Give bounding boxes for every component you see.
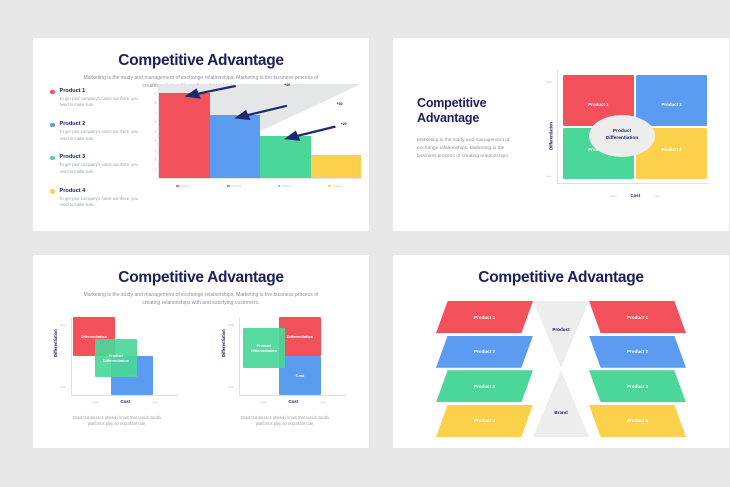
x-axis-low-label: Low xyxy=(654,194,660,198)
quadrant-label: Product 1 xyxy=(588,102,608,107)
slide-3-diagrams: Differentiation High Low Differentiation… xyxy=(33,311,369,439)
center-ellipse-product-differentiation[interactable]: Product Differentiation xyxy=(589,115,655,157)
differentiation-cost-matrix[interactable]: Differentiation High Low Product 1 Produ… xyxy=(533,66,711,206)
chart-bottom-legend: Product 1 Product 2 Product 3 Produ xyxy=(158,180,361,192)
legend-entry[interactable]: Product 3 xyxy=(260,185,311,188)
bullet-dot-icon xyxy=(50,90,55,95)
center-label-brand: Brand xyxy=(554,410,567,415)
row-label: Product 3 xyxy=(627,384,648,389)
y-tick-label: 0 xyxy=(156,178,157,181)
list-item[interactable]: Product 2 To get your company's name out… xyxy=(50,121,141,142)
x-axis-labels: High Cost Low xyxy=(71,399,179,404)
legend-item-desc: To get your company's name out there, yo… xyxy=(60,162,142,175)
product-legend-list: Product 1 To get your company's name out… xyxy=(33,82,141,231)
bar-product-3[interactable] xyxy=(260,136,311,178)
box-product-differentiation[interactable]: Product Differentiation xyxy=(95,339,137,377)
y-axis-high-label: High xyxy=(60,323,66,327)
x-axis-label: Cost xyxy=(630,193,640,198)
slide-1-body: Product 1 To get your company's name out… xyxy=(33,82,369,231)
legend-entry[interactable]: Product 2 xyxy=(209,185,260,188)
legend-entry-label: Product 4 xyxy=(333,185,343,188)
y-tick-label: 50 xyxy=(154,130,157,133)
bar-series xyxy=(159,84,361,178)
y-axis-label: Differentiation xyxy=(548,122,553,150)
slide-2-title-line-2: Advantage xyxy=(417,111,479,125)
right-row-product-2[interactable]: Product 2 xyxy=(589,336,686,368)
slide-2-matrix[interactable]: Competitive Advantage Marketing is the s… xyxy=(393,38,729,231)
bullet-dot-icon xyxy=(50,156,55,161)
slide-4-hexagon[interactable]: Competitive Advantage Product 1 Product … xyxy=(393,255,729,448)
row-label: Product 2 xyxy=(627,349,648,354)
bullet-dot-icon xyxy=(50,123,55,128)
y-tick-label: 40 xyxy=(154,140,157,143)
right-row-product-1[interactable]: Product 1 xyxy=(589,301,686,333)
annotation-label-1: +40 xyxy=(284,83,290,87)
legend-swatch-icon xyxy=(278,185,281,188)
hexagon-grid: Product 1 Product Product 1 Product 2 Pr… xyxy=(436,301,686,437)
list-item[interactable]: Product 3 To get your company's name out… xyxy=(50,154,141,175)
x-axis-label: Cost xyxy=(120,399,130,404)
y-tick-label: 30 xyxy=(154,149,157,152)
y-tick-label: 10 xyxy=(154,168,157,171)
diagram-right[interactable]: Differentiation High Low Differentiation… xyxy=(201,311,369,439)
slide-3-title: Competitive Advantage xyxy=(33,269,369,287)
x-axis-low-label: Low xyxy=(152,400,158,404)
left-row-product-4[interactable]: Product 4 xyxy=(436,405,533,437)
legend-entry-label: Product 3 xyxy=(282,185,292,188)
bullet-dot-icon xyxy=(50,189,55,194)
slide-2-title-line-1: Competitive xyxy=(417,96,486,110)
list-item[interactable]: Product 4 To get your company's name out… xyxy=(50,188,141,209)
legend-item-title: Product 1 xyxy=(60,88,142,94)
annotation-label-3: +20 xyxy=(341,122,347,126)
slide-2-paragraph: Marketing is the study and management of… xyxy=(417,137,521,162)
box-label-line-2: Differentiation xyxy=(103,358,129,363)
diagram-caption: Most businesses already know that social… xyxy=(33,415,201,428)
quadrant-product-2[interactable]: Product 2 xyxy=(636,75,707,126)
legend-item-title: Product 4 xyxy=(60,188,142,194)
diagram-left[interactable]: Differentiation High Low Differentiation… xyxy=(33,311,201,439)
y-axis-label: Differentiation xyxy=(53,329,58,357)
y-tick-label: 20 xyxy=(154,159,157,162)
legend-item-desc: To get your company's name out there, yo… xyxy=(60,129,142,142)
right-row-product-3[interactable]: Product 3 xyxy=(589,370,686,402)
y-axis-low-label: Low xyxy=(228,385,233,389)
left-row-product-2[interactable]: Product 2 xyxy=(436,336,533,368)
left-row-product-1[interactable]: Product 1 xyxy=(436,301,533,333)
bar-product-4[interactable] xyxy=(311,155,362,178)
center-ellipse-line-2: Differentiation xyxy=(606,136,639,141)
legend-item-title: Product 2 xyxy=(60,121,142,127)
legend-swatch-icon xyxy=(328,185,331,188)
legend-entry[interactable]: Product 1 xyxy=(158,185,209,188)
y-tick-label: 70 xyxy=(154,111,157,114)
box-label-line-2: Differentiation xyxy=(251,348,277,353)
x-axis-high-label: High xyxy=(92,400,98,404)
center-triangle-brand[interactable]: Brand xyxy=(533,370,589,437)
annotation-label-2: +30 xyxy=(337,102,343,106)
x-axis-high-label: High xyxy=(260,400,266,404)
box-label: Cost xyxy=(296,373,305,378)
legend-item-title: Product 3 xyxy=(60,154,142,160)
quadrant-label: Product 4 xyxy=(662,147,682,152)
box-product-differentiation[interactable]: Product Differentiation xyxy=(243,328,285,368)
plot-area: +40 +30 +20 xyxy=(158,84,361,179)
x-axis-label: Cost xyxy=(288,399,298,404)
list-item[interactable]: Product 1 To get your company's name out… xyxy=(50,88,141,109)
legend-entry[interactable]: Product 4 xyxy=(310,185,361,188)
legend-entry-label: Product 2 xyxy=(231,185,241,188)
row-label: Product 4 xyxy=(474,418,495,423)
quadrant-label: Product 2 xyxy=(662,102,682,107)
legend-entry-label: Product 1 xyxy=(180,185,190,188)
row-label: Product 3 xyxy=(474,384,495,389)
slide-deck: Competitive Advantage Marketing is the s… xyxy=(0,0,730,487)
y-axis-ticks: 100 90 80 70 60 50 40 30 20 10 0 xyxy=(145,84,158,179)
y-axis-high-label: High xyxy=(546,80,552,84)
slide-4-title: Competitive Advantage xyxy=(393,269,729,287)
hexagon-diagram: Product 1 Product Product 1 Product 2 Pr… xyxy=(393,299,729,439)
center-label-product: Product xyxy=(552,327,569,332)
y-axis-label: Differentiation xyxy=(221,329,226,357)
bar-chart[interactable]: 100 90 80 70 60 50 40 30 20 10 0 xyxy=(141,82,369,231)
legend-swatch-icon xyxy=(227,185,230,188)
box-label: Differentiation xyxy=(287,334,313,339)
slide-2-text-block: Competitive Advantage Marketing is the s… xyxy=(417,96,521,161)
box-cost[interactable]: Cost xyxy=(279,356,321,395)
row-label: Product 4 xyxy=(627,418,648,423)
bar-product-2[interactable] xyxy=(210,115,261,178)
row-label: Product 1 xyxy=(474,315,495,320)
y-axis-high-label: High xyxy=(228,323,234,327)
left-row-product-3[interactable]: Product 3 xyxy=(436,370,533,402)
row-label: Product 2 xyxy=(474,349,495,354)
center-ellipse-line-1: Product xyxy=(613,129,631,134)
y-tick-label: 80 xyxy=(154,102,157,105)
y-tick-label: 60 xyxy=(154,121,157,124)
legend-item-desc: To get your company's name out there, yo… xyxy=(60,196,142,209)
bar-product-1[interactable] xyxy=(159,93,210,178)
slide-3-dual-matrix[interactable]: Competitive Advantage Marketing is the s… xyxy=(33,255,369,448)
x-axis-high-label: High xyxy=(610,194,616,198)
slide-1-title: Competitive Advantage xyxy=(33,52,369,70)
y-axis-low-label: Low xyxy=(546,174,552,178)
center-triangle-product[interactable]: Product xyxy=(533,301,589,368)
y-tick-label: 90 xyxy=(154,92,157,95)
x-axis-labels: High Cost Low xyxy=(239,399,347,404)
box-differentiation[interactable]: Differentiation xyxy=(279,317,321,356)
row-label: Product 1 xyxy=(627,315,648,320)
slide-2-title: Competitive Advantage xyxy=(417,96,521,126)
legend-swatch-icon xyxy=(176,185,179,188)
right-row-product-4[interactable]: Product 4 xyxy=(589,405,686,437)
slide-3-subtitle: Marketing is the study and management of… xyxy=(76,292,326,307)
x-axis-labels: High Cost Low xyxy=(563,193,707,198)
legend-item-desc: To get your company's name out there, yo… xyxy=(60,96,142,109)
y-axis-low-label: Low xyxy=(60,385,65,389)
diagram-caption: Most businesses already know that social… xyxy=(201,415,369,428)
y-tick-label: 100 xyxy=(153,83,157,86)
slide-1-bar-chart[interactable]: Competitive Advantage Marketing is the s… xyxy=(33,38,369,231)
x-axis-low-label: Low xyxy=(320,400,326,404)
